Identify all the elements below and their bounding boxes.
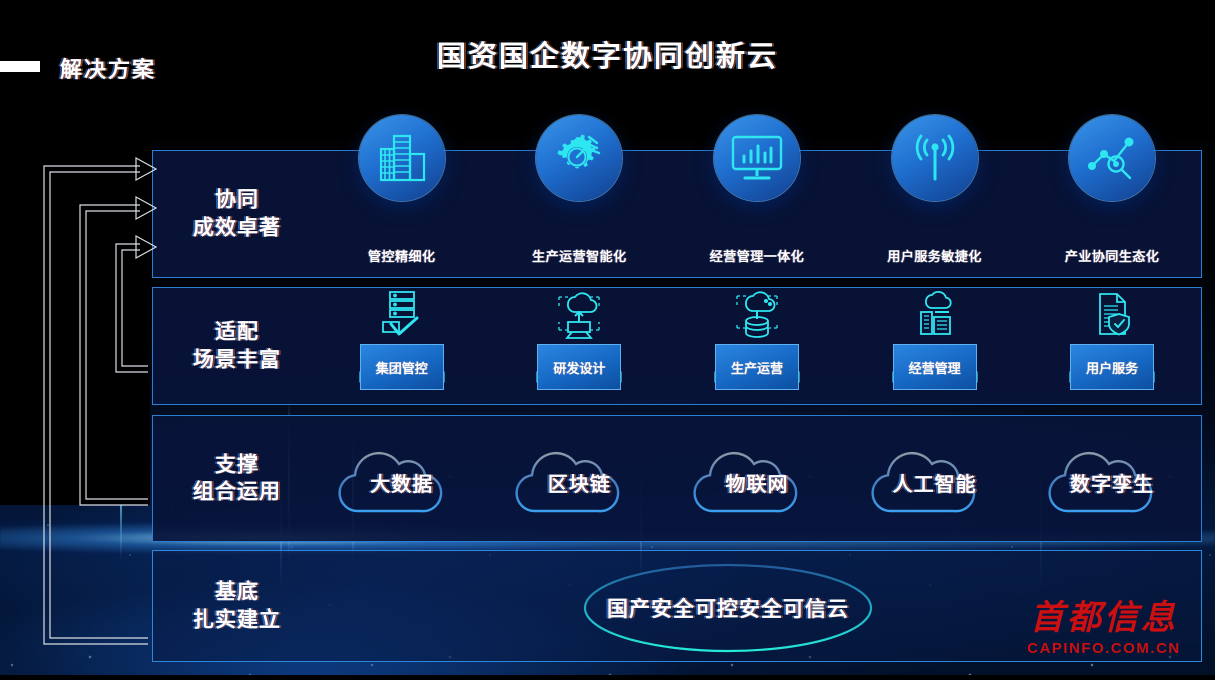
building-icon bbox=[359, 115, 445, 201]
cloud-outline-icon: 数字孪生 bbox=[1037, 443, 1187, 515]
row-label-line1: 协同 bbox=[167, 186, 307, 214]
cell-management-refinement[interactable]: 管控精细化 bbox=[313, 151, 491, 277]
row-collaboration-label: 协同 成效卓著 bbox=[167, 186, 307, 241]
cell-ai[interactable]: 人工智能 bbox=[846, 416, 1024, 541]
cell-label: 用户服务敏捷化 bbox=[887, 246, 982, 265]
cell-label: 产业协同生态化 bbox=[1065, 246, 1160, 265]
cell-label: 用户服务 bbox=[1086, 358, 1138, 377]
scenario-label-box: 研发设计 bbox=[537, 344, 621, 390]
cell-blockchain[interactable]: 区块链 bbox=[491, 416, 669, 541]
cell-label: 数字孪生 bbox=[1070, 468, 1154, 497]
cloud-outline-icon: 大数据 bbox=[327, 443, 477, 515]
logo-chinese-text: 首都信息 bbox=[1009, 602, 1199, 636]
row-scenarios: 适配 场景丰富 bbox=[152, 287, 1202, 405]
scenario-label-box: 经营管理 bbox=[893, 344, 977, 390]
cell-label: 区块链 bbox=[548, 468, 611, 497]
cell-business-management[interactable]: 经营管理 bbox=[846, 288, 1024, 404]
cell-big-data[interactable]: 大数据 bbox=[313, 416, 491, 541]
row-label-line1: 适配 bbox=[167, 318, 307, 346]
cell-group-control[interactable]: 集团管控 bbox=[313, 288, 491, 404]
row-collaboration-cells: 管控精细化 生产运营智能化 bbox=[313, 151, 1201, 277]
cell-label: 生产运营智能化 bbox=[532, 246, 627, 265]
cell-label: 研发设计 bbox=[553, 358, 605, 377]
row-support-cells: 大数据 区块链 物联网 人工 bbox=[313, 416, 1201, 541]
scenario-pedestal: 用户服务 bbox=[1066, 288, 1158, 404]
cell-production-intelligence[interactable]: 生产运营智能化 bbox=[491, 151, 669, 277]
row-foundation-label: 基底 扎实建立 bbox=[167, 578, 307, 633]
row-label-line2: 场景丰富 bbox=[167, 346, 307, 374]
cell-label: 生产运营 bbox=[731, 358, 783, 377]
row-label-line2: 扎实建立 bbox=[167, 606, 307, 634]
row-label-line2: 成效卓著 bbox=[167, 214, 307, 242]
scenario-label-box: 集团管控 bbox=[360, 344, 444, 390]
page-title: 国资国企数字协同创新云 bbox=[0, 33, 1215, 75]
cloud-outline-icon: 物联网 bbox=[682, 443, 832, 515]
row-support-label: 支撑 组合运用 bbox=[167, 451, 307, 506]
cell-label: 物联网 bbox=[725, 468, 788, 497]
row-collaboration: 协同 成效卓著 管控精细化 bbox=[152, 150, 1202, 278]
signal-tower-icon bbox=[892, 115, 978, 201]
scenario-pedestal: 研发设计 bbox=[533, 288, 625, 404]
network-nodes-icon bbox=[1069, 115, 1155, 201]
cell-digital-twin[interactable]: 数字孪生 bbox=[1023, 416, 1201, 541]
cell-label: 经营管理 bbox=[909, 358, 961, 377]
cell-label: 经营管理一体化 bbox=[710, 246, 805, 265]
logo-domain-text: CAPINFO.COM.CN bbox=[1009, 640, 1199, 657]
foundation-ellipse-label: 国产安全可控安全可信云 bbox=[607, 593, 849, 623]
gear-speed-icon bbox=[536, 115, 622, 201]
bracket-arrow-group bbox=[0, 0, 160, 675]
row-scenarios-cells: 集团管控 bbox=[313, 288, 1201, 404]
row-scenarios-label: 适配 场景丰富 bbox=[167, 318, 307, 373]
row-label-line1: 支撑 bbox=[167, 451, 307, 479]
cell-iot[interactable]: 物联网 bbox=[668, 416, 846, 541]
cell-production-operation[interactable]: 生产运营 bbox=[668, 288, 846, 404]
cell-label: 管控精细化 bbox=[368, 246, 436, 265]
cloud-outline-icon: 区块链 bbox=[504, 443, 654, 515]
scenario-pedestal: 生产运营 bbox=[711, 288, 803, 404]
scenario-pedestal: 经营管理 bbox=[889, 288, 981, 404]
cell-agile-user-service[interactable]: 用户服务敏捷化 bbox=[846, 151, 1024, 277]
cell-integrated-operations[interactable]: 经营管理一体化 bbox=[668, 151, 846, 277]
cell-label: 人工智能 bbox=[893, 468, 977, 497]
capinfo-logo: 首都信息 CAPINFO.COM.CN bbox=[1009, 602, 1199, 657]
cell-user-service[interactable]: 用户服务 bbox=[1023, 288, 1201, 404]
row-label-line1: 基底 bbox=[167, 578, 307, 606]
row-support: 支撑 组合运用 大数据 区块链 bbox=[152, 415, 1202, 542]
cell-label: 集团管控 bbox=[376, 358, 428, 377]
row-label-line2: 组合运用 bbox=[167, 479, 307, 507]
monitor-chart-icon bbox=[714, 115, 800, 201]
cell-industry-ecosystem[interactable]: 产业协同生态化 bbox=[1023, 151, 1201, 277]
cell-rnd-design[interactable]: 研发设计 bbox=[491, 288, 669, 404]
scenario-label-box: 用户服务 bbox=[1070, 344, 1154, 390]
scenario-pedestal: 集团管控 bbox=[356, 288, 448, 404]
cell-label: 大数据 bbox=[370, 468, 433, 497]
scenario-label-box: 生产运营 bbox=[715, 344, 799, 390]
foundation-ellipse[interactable]: 国产安全可控安全可信云 bbox=[583, 563, 873, 653]
page-header: 解决方案 国资国企数字协同创新云 bbox=[0, 0, 1215, 110]
cloud-outline-icon: 人工智能 bbox=[860, 443, 1010, 515]
